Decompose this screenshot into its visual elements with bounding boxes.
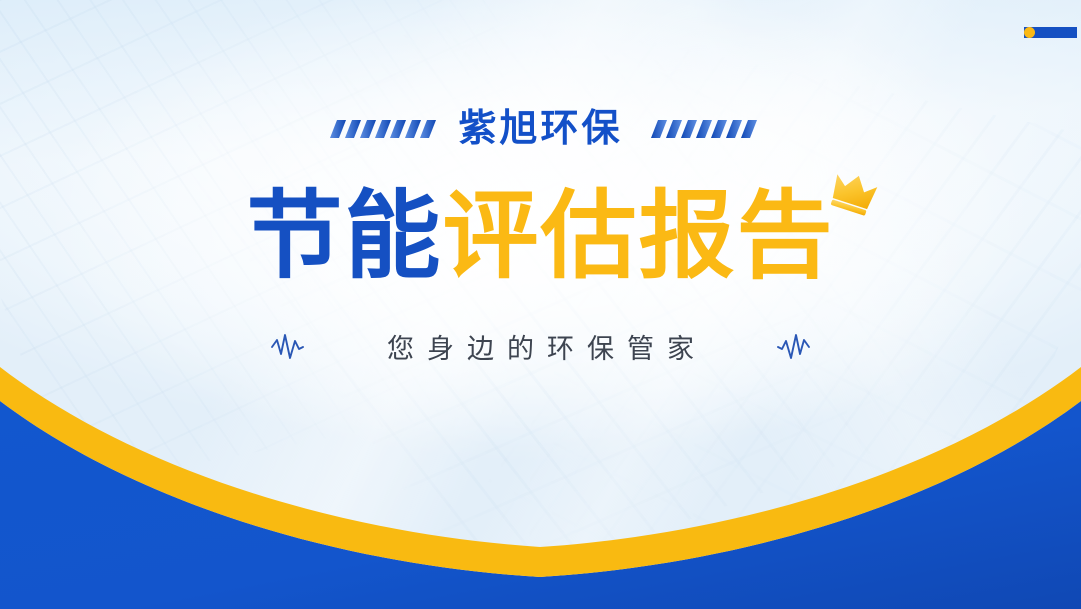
corner-dot-group xyxy=(1024,27,1077,38)
subtitle-row: 您身边的环保管家 xyxy=(0,327,1081,366)
subtitle-text: 您身边的环保管家 xyxy=(374,327,707,366)
crown-icon xyxy=(826,170,880,218)
pulse-line-left-icon xyxy=(220,332,348,362)
background-center-wash xyxy=(0,0,1081,609)
page-title: 节能评估报告 xyxy=(0,185,1081,289)
brand-row: 紫旭环保 xyxy=(0,110,1081,148)
page-title-blue-part: 节能 xyxy=(247,183,443,290)
presentation-cover-slide: 紫旭环保 xyxy=(0,0,1081,609)
corner-dot-2 xyxy=(1045,27,1056,38)
brand-name: 紫旭环保 xyxy=(458,110,622,148)
pulse-line-right-icon xyxy=(733,332,861,362)
dash-ornament-left xyxy=(324,116,436,142)
page-title-gold-part: 评估报告 xyxy=(443,183,835,290)
dash-ornament-right xyxy=(645,116,757,142)
corner-dot-1 xyxy=(1024,27,1035,38)
corner-dot-3 xyxy=(1066,27,1077,38)
